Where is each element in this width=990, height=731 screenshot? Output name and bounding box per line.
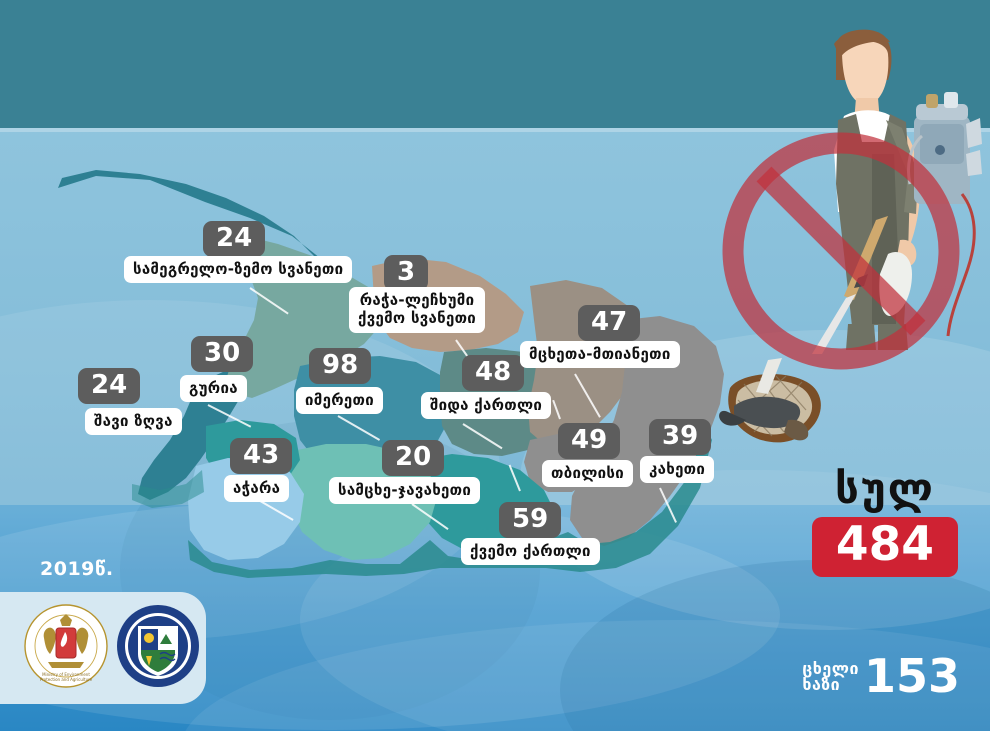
map-marker-label-shida-kartli: შიდა ქართლი bbox=[421, 392, 551, 419]
marker-count: 59 bbox=[499, 502, 561, 538]
hotline-number: 153 bbox=[864, 655, 960, 699]
environmental-supervision-emblem-icon bbox=[116, 604, 200, 688]
map-marker-label-guria: გურია bbox=[180, 375, 247, 402]
map-marker-value-tbilisi: 49 bbox=[558, 423, 620, 459]
infographic-page: უკანონო თევზჭერის სტატისტიკა bbox=[0, 0, 990, 731]
svg-text:Protection and Agriculture: Protection and Agriculture bbox=[40, 677, 93, 682]
map-marker-label-racha: რაჭა-ლეჩხუმი ქვემო სვანეთი bbox=[349, 287, 485, 333]
map-marker-label-imereti: იმერეთი bbox=[296, 387, 383, 414]
map-marker-label-mtskheta: მცხეთა-მთიანეთი bbox=[520, 341, 680, 368]
map-marker-label-shavi-zghva: შავი ზღვა bbox=[85, 408, 182, 435]
marker-region-name: მცხეთა-მთიანეთი bbox=[520, 341, 680, 368]
map-marker-value-guria: 30 bbox=[191, 336, 253, 372]
map-marker-label-achara: აჭარა bbox=[224, 475, 289, 502]
marker-region-name: გურია bbox=[180, 375, 247, 402]
map-marker-value-racha: 3 bbox=[384, 255, 428, 291]
marker-region-name: სამეგრელო-ზემო სვანეთი bbox=[124, 256, 352, 283]
logo-plate: Ministry of Environment Protection and A… bbox=[0, 592, 206, 704]
marker-count: 49 bbox=[558, 423, 620, 459]
map-marker-value-kvemo-kartli: 59 bbox=[499, 502, 561, 538]
map-marker-value-kakheti: 39 bbox=[649, 419, 711, 455]
marker-count: 48 bbox=[462, 355, 524, 391]
map-marker-value-achara: 43 bbox=[230, 438, 292, 474]
marker-count: 20 bbox=[382, 440, 444, 476]
hotline-label-line2: ხაზი bbox=[802, 677, 859, 693]
map-marker-label-kvemo-kartli: ქვემო ქართლი bbox=[461, 538, 600, 565]
map-marker-label-samtskhe: სამცხე-ჯავახეთი bbox=[329, 477, 480, 504]
marker-region-name: იმერეთი bbox=[296, 387, 383, 414]
hotline-block: ცხელი ხაზი 153 bbox=[802, 655, 960, 699]
map-marker-value-samtskhe: 20 bbox=[382, 440, 444, 476]
total-label: სულ bbox=[812, 468, 958, 510]
marker-count: 98 bbox=[309, 348, 371, 384]
map-marker-value-samegrelo: 24 bbox=[203, 221, 265, 257]
no-entry-sign-icon bbox=[716, 126, 966, 376]
hotline-label: ცხელი ხაზი bbox=[802, 661, 859, 693]
marker-count: 24 bbox=[203, 221, 265, 257]
map-marker-value-imereti: 98 bbox=[309, 348, 371, 384]
marker-count: 39 bbox=[649, 419, 711, 455]
marker-count: 3 bbox=[384, 255, 428, 291]
marker-region-name: სამცხე-ჯავახეთი bbox=[329, 477, 480, 504]
marker-count: 47 bbox=[578, 305, 640, 341]
marker-region-name: თბილისი bbox=[542, 460, 633, 487]
map-marker-value-mtskheta: 47 bbox=[578, 305, 640, 341]
map-marker-value-shavi-zghva: 24 bbox=[78, 368, 140, 404]
marker-region-name: კახეთი bbox=[640, 456, 714, 483]
map-marker-label-kakheti: კახეთი bbox=[640, 456, 714, 483]
total-summary: სულ 484 bbox=[812, 468, 958, 577]
marker-count: 24 bbox=[78, 368, 140, 404]
marker-region-name: აჭარა bbox=[224, 475, 289, 502]
year-label: 2019წ. bbox=[40, 558, 114, 580]
marker-region-name: შიდა ქართლი bbox=[421, 392, 551, 419]
map-marker-label-samegrelo: სამეგრელო-ზემო სვანეთი bbox=[124, 256, 352, 283]
marker-region-name: ქვემო ქართლი bbox=[461, 538, 600, 565]
marker-count: 30 bbox=[191, 336, 253, 372]
total-value: 484 bbox=[812, 517, 958, 577]
marker-region-name: რაჭა-ლეჩხუმი ქვემო სვანეთი bbox=[349, 287, 485, 333]
map-marker-label-tbilisi: თბილისი bbox=[542, 460, 633, 487]
map-marker-value-shida-kartli: 48 bbox=[462, 355, 524, 391]
ministry-emblem-icon: Ministry of Environment Protection and A… bbox=[24, 604, 108, 688]
marker-count: 43 bbox=[230, 438, 292, 474]
marker-region-name: შავი ზღვა bbox=[85, 408, 182, 435]
